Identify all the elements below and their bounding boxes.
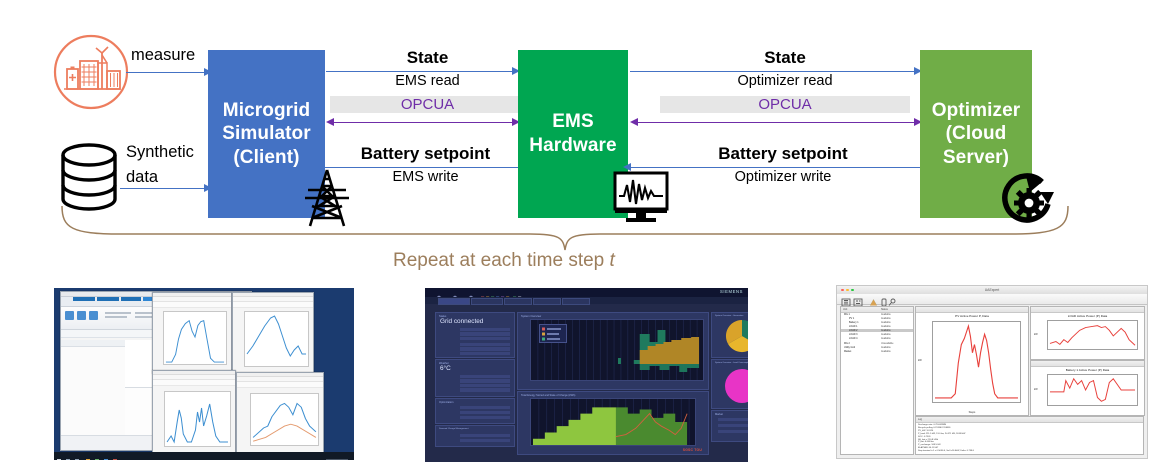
panel-title: System Overview bbox=[521, 315, 541, 318]
tree-item-label: MG 1 bbox=[844, 313, 850, 316]
tree-item-status: Available bbox=[881, 337, 891, 340]
panel-row bbox=[718, 418, 748, 421]
log-pane[interactable]: Log Discharge rate: 0.78 kW/MIN Recycle … bbox=[915, 416, 1144, 455]
dashboard-panel-generation-pie[interactable]: System Overview - Generation bbox=[711, 312, 748, 358]
dashboard-panel-load-pie[interactable]: System Overview - Load Consumption bbox=[711, 359, 748, 409]
panel-row bbox=[460, 352, 510, 355]
dashboard-panel-status[interactable]: Status Grid connected bbox=[435, 312, 515, 358]
dashboard-tab-system[interactable] bbox=[533, 298, 561, 305]
panel-row bbox=[460, 388, 510, 391]
tree-item-label: Market bbox=[844, 350, 851, 353]
battery-plot-pane[interactable]: Battery 1 Active Power (P) Data kW bbox=[1030, 360, 1145, 416]
tou-badge: SGSC TOU bbox=[683, 448, 702, 452]
right-link-state-subtitle: Optimizer read bbox=[660, 73, 910, 89]
right-opcua-arrow-head-left bbox=[630, 118, 638, 126]
tree-column-unit: Unit bbox=[843, 308, 847, 311]
left-battery-arrow-line bbox=[318, 167, 518, 168]
toolbar[interactable] bbox=[837, 294, 1147, 305]
pv-plot-xlabel: Steps bbox=[916, 411, 1028, 414]
microgrid-line-3: (Client) bbox=[233, 146, 299, 170]
pv-plot-title: PV Active Power P, Data bbox=[916, 314, 1028, 318]
right-opcua-arrow-line bbox=[634, 122, 918, 123]
tree-item[interactable]: LOAD 2 Available bbox=[841, 329, 913, 332]
tree-item[interactable]: Market Available bbox=[841, 350, 913, 353]
repeat-caption: Repeat at each time step t bbox=[393, 250, 615, 272]
system-overview-area-chart bbox=[530, 319, 704, 381]
panel-row bbox=[460, 384, 510, 387]
energy-stored-area-chart bbox=[530, 398, 696, 446]
panel-title: System Overview - Generation bbox=[715, 315, 743, 317]
window-title: UAExpert bbox=[837, 288, 1147, 292]
microgrid-line-2: Simulator bbox=[222, 122, 311, 146]
right-battery-arrow-line bbox=[628, 167, 920, 168]
chart-legend bbox=[539, 324, 567, 343]
pane-header bbox=[1031, 361, 1144, 367]
panel-row bbox=[460, 328, 510, 331]
matlab-figure-window[interactable] bbox=[236, 372, 324, 456]
panel-row bbox=[460, 347, 510, 350]
battery-plot-axes bbox=[1047, 374, 1138, 406]
tree-column-status: Status bbox=[881, 308, 888, 311]
tree-item-status: Available bbox=[881, 346, 891, 349]
left-opcua-arrow-head-left bbox=[326, 118, 334, 126]
repeat-loop-brace bbox=[60, 204, 1070, 252]
panel-row bbox=[718, 424, 748, 427]
panel-row bbox=[460, 343, 510, 346]
panel-headline: Grid connected bbox=[440, 318, 483, 325]
panel-title: Total Energy Stored and State of Charge … bbox=[521, 394, 575, 397]
left-link-battery-subtitle: EMS write bbox=[328, 169, 523, 185]
dashboard-tab-market[interactable] bbox=[562, 298, 590, 305]
matlab-file-browser[interactable] bbox=[61, 340, 126, 436]
tree-item[interactable]: LOAD 1 Available bbox=[841, 325, 913, 328]
tree-item-status: Available bbox=[881, 333, 891, 336]
figure-plot bbox=[250, 393, 319, 446]
city-battery-turbine-icon bbox=[52, 33, 130, 111]
panel-title: Demand Charge Management bbox=[439, 428, 468, 430]
dashboard-tab-usage[interactable] bbox=[504, 298, 532, 305]
load-plot-axes bbox=[1047, 320, 1138, 350]
left-link-state-title: State bbox=[330, 48, 525, 68]
matlab-ribbon-tab-plots[interactable] bbox=[97, 297, 119, 301]
figure-plot bbox=[164, 391, 231, 447]
matlab-ribbon-tab-home[interactable] bbox=[73, 297, 95, 301]
tree-item[interactable]: LOAD 4 Available bbox=[841, 337, 913, 340]
log-content: Discharge rate: 0.78 kW/MIN Recycle pull… bbox=[918, 424, 1139, 453]
panel-row bbox=[460, 337, 510, 340]
tree-item-status: Available bbox=[881, 350, 891, 353]
tree-item-label: LOAD 4 bbox=[849, 337, 858, 340]
dashboard-tab-generation[interactable] bbox=[471, 298, 503, 305]
dashboard-panel-optimization[interactable]: Optimization bbox=[435, 398, 515, 424]
tree-item[interactable]: MG 1 Available bbox=[841, 313, 913, 316]
tree-item-status: Available bbox=[881, 313, 891, 316]
tree-item-label: PV 1 bbox=[849, 317, 854, 320]
tree-item-status: Available bbox=[881, 317, 891, 320]
panel-title: System Overview - Load Consumption bbox=[715, 362, 748, 364]
dashboard-panel-market[interactable]: Market bbox=[711, 410, 748, 442]
synthetic-data-label-line2: data bbox=[126, 168, 158, 187]
tree-item-status: Available bbox=[881, 329, 891, 332]
matlab-figure-window[interactable] bbox=[152, 292, 232, 374]
pane-header bbox=[1031, 307, 1144, 313]
panel-row bbox=[460, 411, 510, 414]
dashboard-panel-demand-charge[interactable]: Demand Charge Management bbox=[435, 425, 515, 447]
panel-row bbox=[460, 379, 510, 382]
right-link-battery-title: Battery setpoint bbox=[658, 144, 908, 164]
right-link-opcua-title: OPCUA bbox=[660, 96, 910, 113]
generation-pie-chart bbox=[712, 319, 748, 355]
load-plot-ylabel: kW bbox=[1034, 333, 1038, 336]
panel-headline: 6°C bbox=[440, 365, 451, 372]
load-pie-chart bbox=[712, 367, 748, 407]
optimizer-line-1: Optimizer bbox=[932, 99, 1021, 123]
tree-item[interactable]: Utility Grid Available bbox=[841, 346, 913, 349]
dashboard-panel-energy-stored[interactable]: Total Energy Stored and State of Charge … bbox=[517, 391, 709, 455]
tree-item-status: Unavailable bbox=[881, 342, 894, 345]
matlab-desktop-screenshot[interactable] bbox=[54, 288, 354, 460]
tree-item[interactable]: MG 2 Unavailable bbox=[841, 342, 913, 345]
right-battery-arrow-head bbox=[623, 163, 631, 171]
left-link-opcua-title: OPCUA bbox=[330, 96, 525, 113]
tree-item[interactable]: PV 1 Available bbox=[841, 317, 913, 320]
siemens-brand-logo: SIEMENS bbox=[720, 289, 743, 294]
panel-row bbox=[460, 406, 510, 409]
tree-item-label: Battery 1 bbox=[849, 321, 859, 324]
log-line: Step iterated t+1 = 0.5056.0, SoC=16.6kW… bbox=[918, 450, 1139, 453]
log-title: Log bbox=[918, 418, 922, 421]
right-state-arrow-line bbox=[630, 71, 918, 72]
panel-row bbox=[460, 332, 510, 335]
left-battery-arrow-head bbox=[313, 163, 321, 171]
panel-row bbox=[460, 439, 510, 442]
battery-plot-title: Battery 1 Active Power (P) Data bbox=[1031, 368, 1144, 372]
tree-item-label: LOAD 3 bbox=[849, 333, 858, 336]
panel-row bbox=[460, 434, 510, 437]
left-link-battery-title: Battery setpoint bbox=[328, 144, 523, 164]
load-plot-pane[interactable]: LOAD Active Power (P) Data kW bbox=[1030, 306, 1145, 360]
dashboard-panel-system-overview[interactable]: System Overview bbox=[517, 312, 709, 390]
diagram-canvas: measure Synthetic data Microgrid Simulat… bbox=[0, 0, 1173, 463]
figure-plot bbox=[163, 311, 227, 365]
matlab-figure-window[interactable] bbox=[232, 292, 314, 376]
synthetic-data-label-line1: Synthetic bbox=[126, 143, 194, 162]
repeat-caption-text: Repeat at each time step bbox=[393, 250, 610, 271]
dashboard-panel-weather[interactable]: Weather 6°C bbox=[435, 359, 515, 397]
left-opcua-arrow-line bbox=[330, 122, 516, 123]
pv-plot-ylabel: kW bbox=[918, 359, 922, 362]
measure-label: measure bbox=[131, 46, 195, 65]
matlab-figure-window[interactable] bbox=[152, 370, 236, 456]
panel-title: Optimization bbox=[439, 401, 453, 404]
pv-plot-pane[interactable]: PV Active Power P, Data kW Steps bbox=[915, 306, 1029, 416]
panel-row bbox=[718, 430, 748, 433]
left-state-arrow-line bbox=[326, 71, 516, 72]
tree-item-label: LOAD 2 bbox=[849, 329, 858, 332]
ems-line-1: EMS bbox=[552, 110, 593, 134]
left-link-state-subtitle: EMS read bbox=[330, 73, 525, 89]
matlab-ribbon-tab-apps[interactable] bbox=[121, 297, 141, 301]
pane-header: Log bbox=[916, 417, 1143, 423]
pv-plot-axes bbox=[932, 321, 1021, 403]
siemens-ems-dashboard-screenshot[interactable]: SIEMENS Status Grid connected Weather 6°… bbox=[425, 288, 748, 462]
right-link-battery-subtitle: Optimizer write bbox=[658, 169, 908, 185]
optimizer-line-2: (Cloud bbox=[946, 122, 1007, 146]
optimizer-line-3: Server) bbox=[943, 146, 1009, 170]
panel-title: Market bbox=[715, 413, 723, 416]
tree-item-status: Available bbox=[881, 321, 891, 324]
tree-item-status: Available bbox=[881, 325, 891, 328]
panel-row bbox=[460, 416, 510, 419]
tree-item-label: LOAD 1 bbox=[849, 325, 858, 328]
ems-line-2: Hardware bbox=[529, 134, 616, 158]
microgrid-line-1: Microgrid bbox=[223, 99, 310, 123]
opcua-client-screenshot[interactable]: UAExpert Unit Status bbox=[836, 285, 1148, 459]
pane-header bbox=[916, 307, 1028, 313]
synthetic-data-arrow-line bbox=[120, 188, 208, 189]
right-link-state-title: State bbox=[660, 48, 910, 68]
tree-item[interactable]: Battery 1 Available bbox=[841, 321, 913, 324]
tree-item-label: MG 2 bbox=[844, 342, 850, 345]
repeat-caption-variable: t bbox=[610, 250, 615, 271]
panel-row bbox=[460, 375, 510, 378]
dashboard-tab-dashboard[interactable] bbox=[438, 298, 470, 305]
battery-plot-ylabel: kW bbox=[1034, 388, 1038, 391]
unit-tree-pane[interactable]: Unit Status MG 1 Available PV 1 Availabl… bbox=[840, 306, 914, 455]
tree-item-label: Utility Grid bbox=[844, 346, 855, 349]
load-plot-title: LOAD Active Power (P) Data bbox=[1031, 314, 1144, 318]
tree-item[interactable]: LOAD 3 Available bbox=[841, 333, 913, 336]
windows-taskbar[interactable] bbox=[54, 452, 354, 460]
figure-plot bbox=[244, 311, 309, 367]
measure-arrow-line bbox=[126, 72, 208, 73]
